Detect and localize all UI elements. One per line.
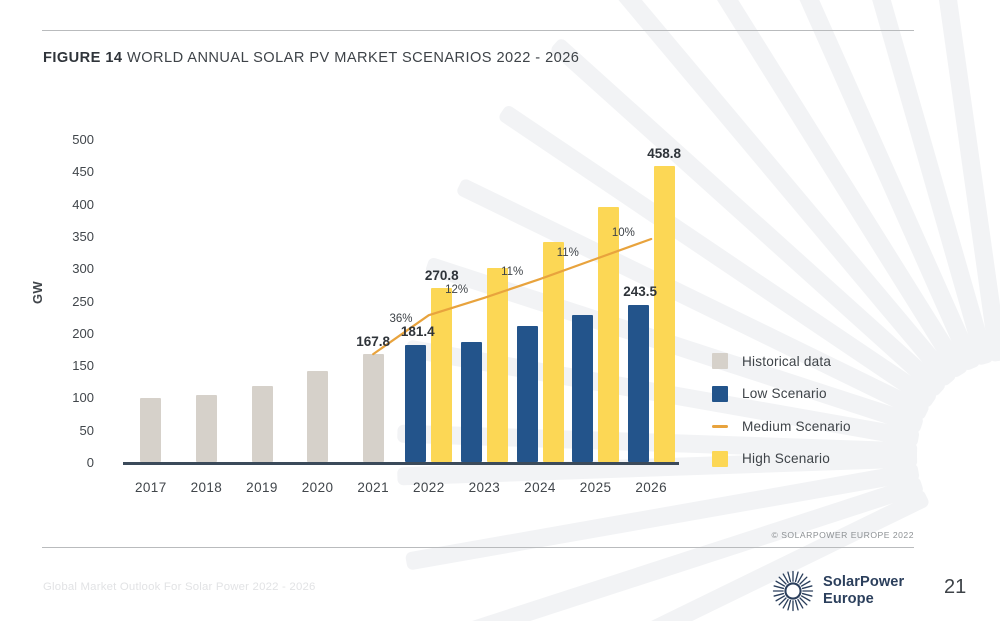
x-tick-label-2019: 2019 [234,480,290,495]
y-tick-label: 150 [48,359,94,372]
legend-line-icon [712,418,728,434]
chart-area: GW 500450400350300250200150100500 201720… [0,0,1000,621]
y-tick-label: 100 [48,391,94,404]
x-tick-label-2026: 2026 [623,480,679,495]
chart-legend: Historical dataLow ScenarioMedium Scenar… [712,345,851,475]
value-label-low-2022: 181.4 [378,324,458,339]
x-tick-label-2024: 2024 [512,480,568,495]
y-tick-label: 200 [48,327,94,340]
legend-item-label: Historical data [742,354,831,369]
x-tick-label-2022: 2022 [401,480,457,495]
legend-swatch-icon [712,451,728,467]
bar-low-2023 [461,342,482,463]
bar-high-2025 [598,207,619,463]
growth-label-2025: 11% [543,247,593,259]
legend-swatch-icon [712,386,728,402]
bar-high-2022 [431,288,452,463]
bar-historical-2018 [196,395,217,463]
x-tick-label-2020: 2020 [290,480,346,495]
y-tick-label: 500 [48,133,94,146]
value-label-high-2026: 458.8 [624,146,704,161]
y-tick-label: 300 [48,262,94,275]
legend-item-historical-data[interactable]: Historical data [712,345,851,378]
y-tick-label: 50 [48,424,94,437]
growth-label-2022: 36% [376,313,426,325]
legend-item-label: High Scenario [742,451,830,466]
y-axis-label: GW [30,281,45,304]
brand-line-2: Europe [823,591,904,608]
slide-page: FIGURE 14 WORLD ANNUAL SOLAR PV MARKET S… [0,0,1000,621]
y-tick-label: 0 [48,456,94,469]
footer-document-title: Global Market Outlook For Solar Power 20… [43,581,316,593]
figure-number: FIGURE 14 [43,50,122,66]
bottom-divider [42,547,914,548]
bar-high-2024 [543,242,564,462]
bar-low-2025 [572,315,593,462]
x-axis-baseline [123,462,679,465]
x-tick-label-2025: 2025 [568,480,624,495]
legend-item-label: Low Scenario [742,386,827,401]
solarpower-europe-logo: SolarPower Europe [772,570,904,612]
brand-line-1: SolarPower [823,574,904,591]
bar-low-2024 [517,326,538,462]
legend-item-low-scenario[interactable]: Low Scenario [712,378,851,411]
legend-item-label: Medium Scenario [742,419,851,434]
bar-historical-2020 [307,371,328,462]
page-title: FIGURE 14 WORLD ANNUAL SOLAR PV MARKET S… [43,50,579,66]
y-tick-label: 400 [48,198,94,211]
sunburst-logo-icon [772,570,814,612]
bar-historical-2021 [363,354,384,462]
bar-low-2022 [405,345,426,462]
bar-historical-2017 [140,398,161,463]
growth-label-2023: 12% [432,284,482,296]
copyright-notice: © SOLARPOWER EUROPE 2022 [771,530,914,540]
legend-item-medium-scenario[interactable]: Medium Scenario [712,410,851,443]
figure-title-text: WORLD ANNUAL SOLAR PV MARKET SCENARIOS 2… [122,50,579,66]
x-tick-label-2017: 2017 [123,480,179,495]
page-number: 21 [944,576,966,599]
bar-high-2026 [654,166,675,462]
x-tick-label-2018: 2018 [178,480,234,495]
y-tick-label: 250 [48,295,94,308]
growth-label-2026: 10% [598,227,648,239]
value-label-low-2026: 243.5 [600,284,680,299]
bar-low-2026 [628,305,649,462]
brand-name: SolarPower Europe [823,574,904,608]
y-tick-label: 350 [48,230,94,243]
top-divider [42,30,914,31]
x-tick-label-2021: 2021 [345,480,401,495]
legend-item-high-scenario[interactable]: High Scenario [712,443,851,476]
bar-high-2023 [487,268,508,462]
legend-swatch-icon [712,353,728,369]
growth-label-2024: 11% [487,266,537,278]
value-label-high-2022: 270.8 [402,268,482,283]
x-tick-label-2023: 2023 [456,480,512,495]
y-tick-label: 450 [48,165,94,178]
bar-historical-2019 [252,386,273,462]
